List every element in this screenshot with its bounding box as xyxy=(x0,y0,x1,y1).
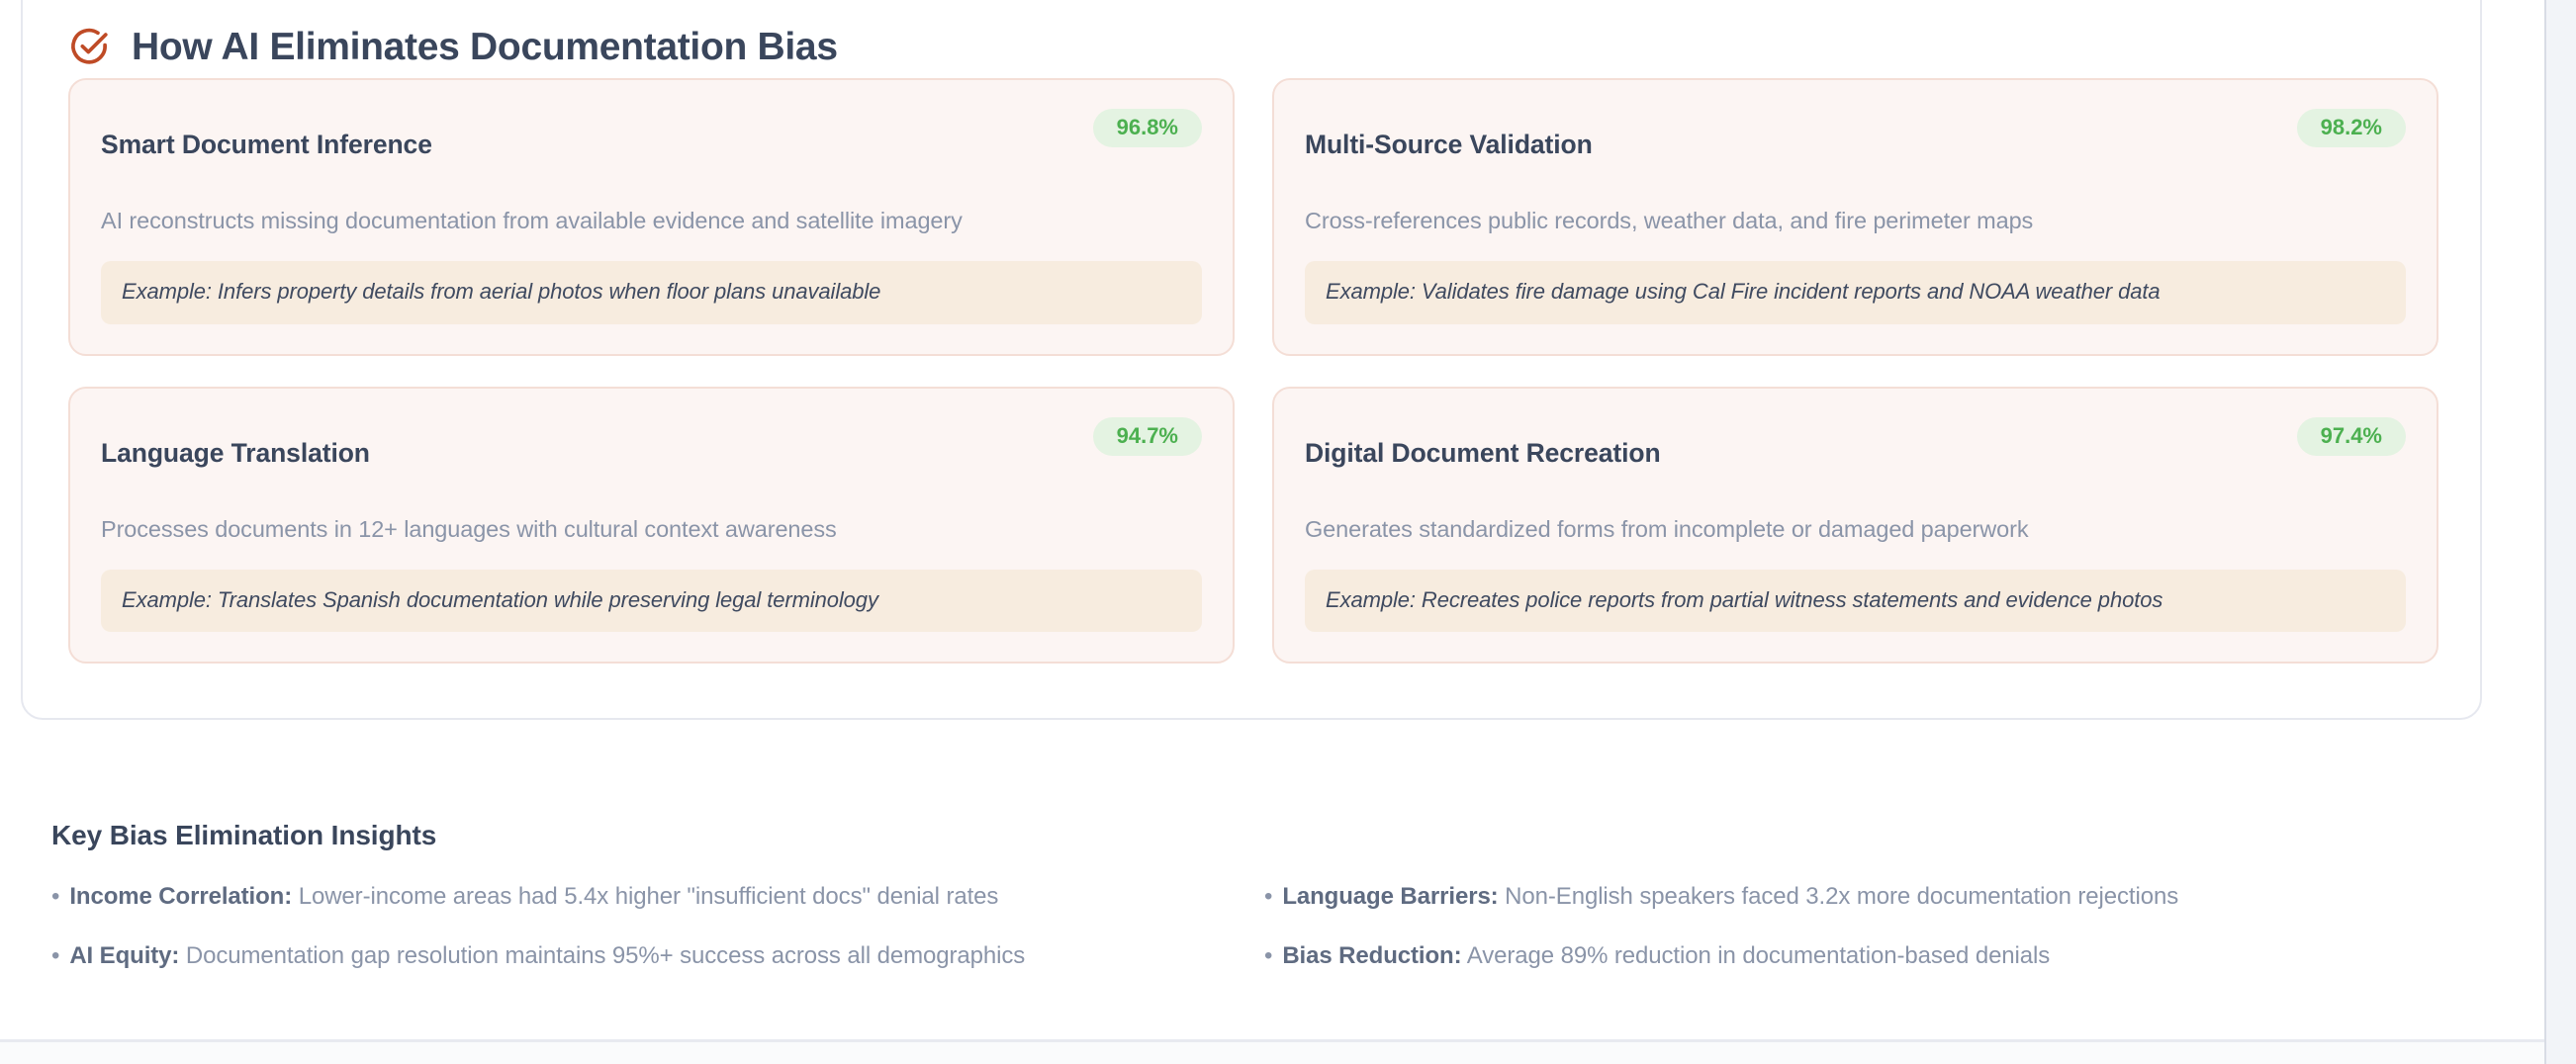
check-circle-icon xyxy=(68,27,110,68)
insight-item: • Bias Reduction: Average 89% reduction … xyxy=(1264,940,2445,971)
feature-card[interactable]: Language Translation 94.7% Processes doc… xyxy=(68,387,1235,665)
card-example: Example: Validates fire damage using Cal… xyxy=(1305,261,2406,324)
card-header: Digital Document Recreation 97.4% xyxy=(1305,416,2406,489)
insight-text: Lower-income areas had 5.4x higher "insu… xyxy=(299,883,999,910)
insight-text: Documentation gap resolution maintains 9… xyxy=(186,942,1025,969)
insight-text: Non-English speakers faced 3.2x more doc… xyxy=(1505,883,2178,910)
screenshot-viewport: How AI Eliminates Documentation Bias Sma… xyxy=(0,0,2576,1064)
insight-text: Average 89% reduction in documentation-b… xyxy=(1467,942,2050,969)
card-description: Processes documents in 12+ languages wit… xyxy=(101,514,1202,545)
bullet-icon: • xyxy=(1264,881,1272,912)
accuracy-badge: 94.7% xyxy=(1093,417,1202,456)
insight-item: • AI Equity: Documentation gap resolutio… xyxy=(51,940,1233,971)
insights-title: Key Bias Elimination Insights xyxy=(51,822,2445,849)
bullet-icon: • xyxy=(51,881,59,912)
card-example: Example: Infers property details from ae… xyxy=(101,261,1202,324)
insight-body: Bias Reduction: Average 89% reduction in… xyxy=(1282,940,2050,971)
card-header: Language Translation 94.7% xyxy=(101,416,1202,489)
accuracy-badge: 97.4% xyxy=(2297,417,2406,456)
vertical-scrollbar[interactable] xyxy=(2544,0,2576,1064)
accuracy-badge: 98.2% xyxy=(2297,109,2406,147)
card-header: Multi-Source Validation 98.2% xyxy=(1305,108,2406,181)
insights-grid: • Income Correlation: Lower-income areas… xyxy=(51,881,2445,971)
insight-item: • Income Correlation: Lower-income areas… xyxy=(51,881,1233,912)
insight-body: Income Correlation: Lower-income areas h… xyxy=(69,881,998,912)
scroll-content-column: How AI Eliminates Documentation Bias Sma… xyxy=(0,0,2544,1064)
insight-label: AI Equity: xyxy=(69,942,179,969)
card-title: Multi-Source Validation xyxy=(1305,130,1593,159)
feature-card[interactable]: Multi-Source Validation 98.2% Cross-refe… xyxy=(1272,78,2438,356)
accuracy-badge: 96.8% xyxy=(1093,109,1202,147)
card-description: AI reconstructs missing documentation fr… xyxy=(101,206,1202,236)
insight-item: • Language Barriers: Non-English speaker… xyxy=(1264,881,2445,912)
bottom-strip xyxy=(0,1042,2544,1064)
insight-label: Bias Reduction: xyxy=(1282,942,1461,969)
insight-body: AI Equity: Documentation gap resolution … xyxy=(69,940,1025,971)
card-description: Generates standardized forms from incomp… xyxy=(1305,514,2406,545)
card-title: Smart Document Inference xyxy=(101,130,432,159)
card-title: Language Translation xyxy=(101,438,370,468)
bullet-icon: • xyxy=(1264,940,1272,971)
feature-card[interactable]: Digital Document Recreation 97.4% Genera… xyxy=(1272,387,2438,665)
documentation-bias-panel: How AI Eliminates Documentation Bias Sma… xyxy=(21,0,2482,720)
page-title: How AI Eliminates Documentation Bias xyxy=(132,28,838,66)
card-example: Example: Recreates police reports from p… xyxy=(1305,570,2406,633)
card-header: Smart Document Inference 96.8% xyxy=(101,108,1202,181)
bullet-icon: • xyxy=(51,940,59,971)
card-title: Digital Document Recreation xyxy=(1305,438,1661,468)
feature-card[interactable]: Smart Document Inference 96.8% AI recons… xyxy=(68,78,1235,356)
card-example: Example: Translates Spanish documentatio… xyxy=(101,570,1202,633)
insight-label: Income Correlation: xyxy=(69,883,292,910)
key-insights-section: Key Bias Elimination Insights • Income C… xyxy=(51,799,2445,972)
insight-label: Language Barriers: xyxy=(1282,883,1498,910)
feature-card-grid: Smart Document Inference 96.8% AI recons… xyxy=(68,78,2438,664)
card-description: Cross-references public records, weather… xyxy=(1305,206,2406,236)
insight-body: Language Barriers: Non-English speakers … xyxy=(1282,881,2178,912)
